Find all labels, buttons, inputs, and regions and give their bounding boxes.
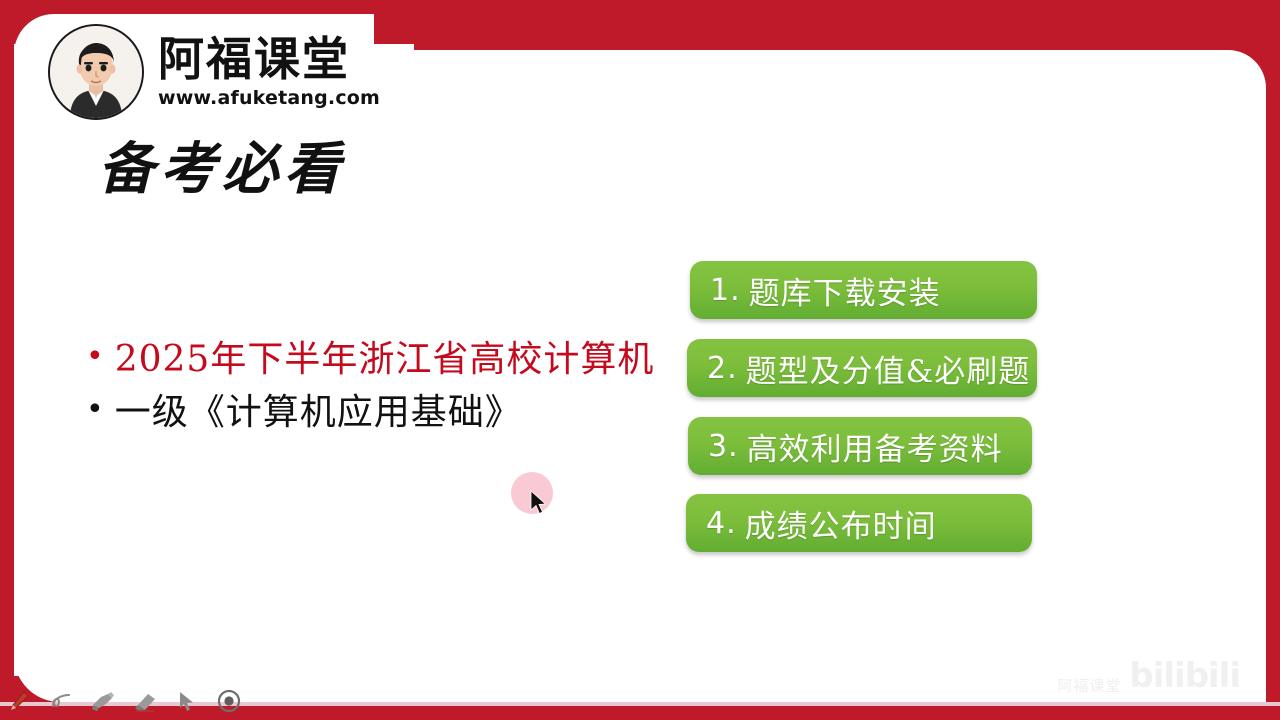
list-item: • 一级《计算机应用基础》 [86, 387, 686, 440]
pointer-icon[interactable] [174, 688, 200, 714]
agenda-item-4[interactable]: 4. 成绩公布时间 [686, 494, 1032, 552]
watermark-logo: bilibili [1129, 656, 1240, 696]
pen-icon[interactable] [6, 688, 32, 714]
agenda-number: 1. [710, 273, 741, 308]
avatar-illustration [50, 26, 142, 118]
eraser-icon[interactable] [132, 688, 158, 714]
agenda-label: 成绩公布时间 [745, 501, 937, 546]
bullet-list: • 2025年下半年浙江省高校计算机 • 一级《计算机应用基础》 [86, 334, 686, 439]
list-item: • 2025年下半年浙江省高校计算机 [86, 334, 686, 387]
record-icon[interactable] [216, 688, 242, 714]
agenda-number: 2. [707, 351, 738, 386]
bilibili-watermark: 阿福课堂 bilibili [1057, 656, 1240, 696]
watermark-text: 阿福课堂 [1057, 675, 1121, 696]
avatar [48, 24, 144, 120]
agenda-number: 3. [708, 429, 739, 464]
cursor-arrow-icon [530, 490, 548, 516]
highlighter-icon[interactable] [90, 688, 116, 714]
brand-logo: 阿福课堂 www.afuketang.com [48, 24, 380, 120]
agenda-item-1[interactable]: 1. 题库下载安装 [690, 261, 1037, 319]
agenda-label: 题型及分值&必刷题 [746, 346, 1031, 391]
bullet-marker: • [86, 387, 105, 434]
bullet-text: 2025年下半年浙江省高校计算机 [115, 334, 655, 387]
mouse-cursor [511, 472, 557, 518]
agenda-number: 4. [706, 506, 737, 541]
squiggle-icon[interactable] [48, 688, 74, 714]
agenda-item-2[interactable]: 2. 题型及分值&必刷题 [687, 339, 1037, 397]
screen: 阿福课堂 www.afuketang.com 备考必看 • 2025年下半年浙江… [0, 0, 1280, 720]
agenda-label: 高效利用备考资料 [747, 424, 1003, 469]
bullet-marker: • [86, 334, 105, 381]
annotation-toolbar[interactable] [6, 688, 242, 714]
brand-url: www.afuketang.com [158, 89, 380, 108]
agenda-item-3[interactable]: 3. 高效利用备考资料 [688, 417, 1032, 475]
page-title: 备考必看 [98, 124, 346, 205]
agenda-label: 题库下载安装 [749, 268, 941, 313]
bullet-text: 一级《计算机应用基础》 [115, 387, 522, 440]
brand-text-block: 阿福课堂 www.afuketang.com [158, 36, 380, 108]
brand-name: 阿福课堂 [158, 36, 380, 82]
